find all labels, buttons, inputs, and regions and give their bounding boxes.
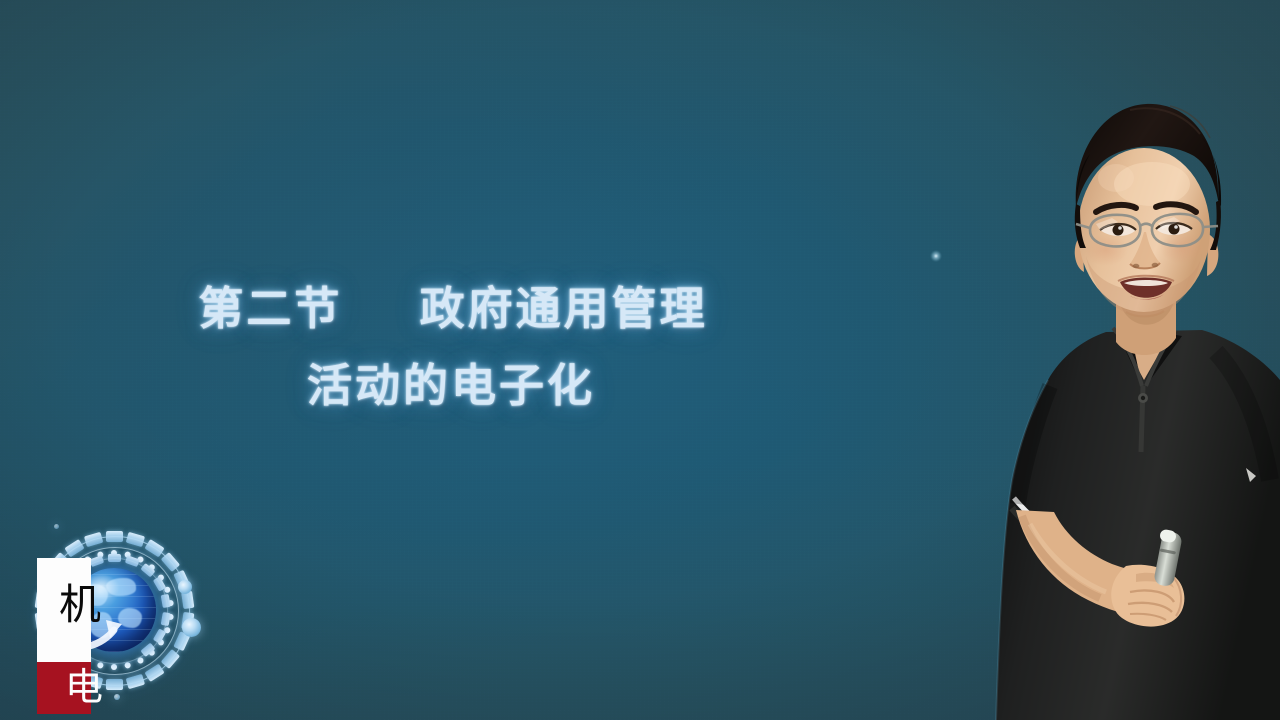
video-slide-frame: 第二节 政府通用管理 活动的电子化	[0, 0, 1280, 720]
logo-accent-orb	[114, 694, 120, 700]
watermark-character-top: 机	[59, 584, 101, 626]
globe-landmass	[118, 608, 142, 628]
watermark-character-bottom: 电	[65, 668, 103, 706]
logo-accent-orb	[54, 524, 59, 529]
light-speck-artifact	[930, 250, 942, 262]
channel-logo: 机 电	[18, 518, 218, 718]
logo-accent-orb	[182, 618, 201, 637]
logo-accent-orb	[178, 580, 192, 594]
logo-watermark-plate: 机 电	[37, 558, 91, 714]
